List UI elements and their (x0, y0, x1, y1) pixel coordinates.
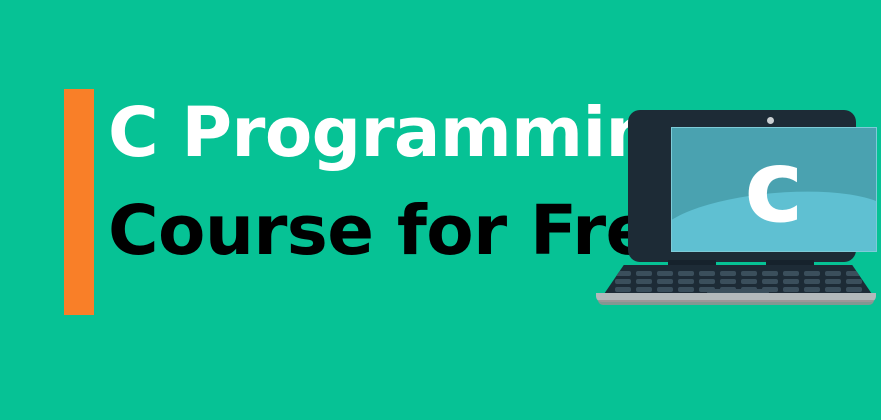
keyboard-row (602, 279, 874, 284)
laptop-screen: c (671, 127, 877, 252)
keyboard-key (804, 287, 820, 292)
headline-line-primary: C Programming (108, 84, 628, 182)
keyboard-key (615, 287, 631, 292)
keyboard-key (699, 279, 715, 284)
keyboard-key (804, 271, 820, 276)
accent-bar (64, 89, 94, 315)
laptop-shadow (598, 300, 874, 305)
keyboard-key (783, 279, 799, 284)
keyboard-key (741, 271, 757, 276)
c-language-letter: c (672, 128, 876, 251)
keyboard-key (615, 271, 631, 276)
webcam-icon (767, 117, 774, 124)
keyboard-key (825, 271, 841, 276)
keyboard-key (846, 271, 862, 276)
keyboard-key (804, 279, 820, 284)
keyboard-key (783, 287, 799, 292)
keyboard-key (699, 271, 715, 276)
keyboard-key (825, 279, 841, 284)
keyboard-key (636, 279, 652, 284)
keyboard-key (762, 279, 778, 284)
keyboard-key (657, 271, 673, 276)
keyboard-key (636, 271, 652, 276)
headline: C Programming Course for Free (108, 84, 628, 280)
keyboard-key (741, 279, 757, 284)
laptop-illustration: c (596, 110, 876, 305)
keyboard-key (720, 279, 736, 284)
keyboard-key (678, 287, 694, 292)
keyboard-key (762, 271, 778, 276)
headline-line-secondary: Course for Free (108, 182, 628, 280)
keyboard-key (825, 287, 841, 292)
keyboard-key (636, 287, 652, 292)
keyboard-key (783, 271, 799, 276)
keyboard-key (720, 271, 736, 276)
keyboard-key (657, 287, 673, 292)
laptop-lid: c (628, 110, 856, 262)
keyboard-key (678, 279, 694, 284)
keyboard-key (846, 279, 862, 284)
keyboard-key (615, 279, 631, 284)
banner: C Programming Course for Free c (0, 0, 881, 420)
keyboard-row (602, 271, 874, 276)
keyboard-key (657, 279, 673, 284)
keyboard-key (678, 271, 694, 276)
keyboard-key (846, 287, 862, 292)
